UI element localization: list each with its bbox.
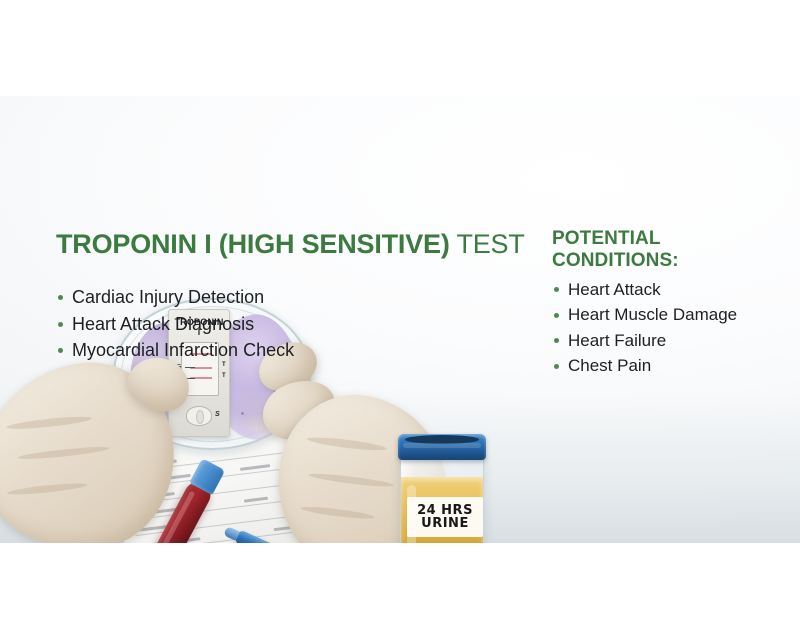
slide-title: TROPONIN I (HIGH SENSITIVE) TEST	[56, 230, 525, 259]
cassette-igm-t-mark: T	[222, 373, 226, 379]
cassette-sample-well-inner	[196, 410, 204, 424]
slide-title-light: TEST	[450, 229, 525, 259]
banner-image-area: LAB REQUISITION	[0, 96, 800, 543]
urine-specimen-cup: 24 HRS URINE	[398, 434, 486, 543]
slide-title-bold: TROPONIN I (HIGH SENSITIVE)	[56, 229, 450, 259]
potential-conditions-column: POTENTIAL CONDITIONS: Heart Attack Heart…	[552, 228, 788, 379]
specimen-label-line1: 24 HRS	[417, 504, 473, 517]
right-bullet-list: Heart Attack Heart Muscle Damage Heart F…	[552, 277, 788, 379]
specimen-cup-lid	[398, 434, 486, 460]
list-item: Heart Failure	[552, 328, 788, 354]
list-item: Heart Attack	[552, 277, 788, 303]
specimen-label-line2: URINE	[421, 517, 469, 530]
list-item: Cardiac Injury Detection	[56, 284, 294, 311]
list-item: Myocardial Infarction Check	[56, 337, 294, 364]
specimen-cup-label: 24 HRS URINE	[407, 497, 483, 537]
list-item: Heart Attack Diagnosis	[56, 311, 294, 338]
potential-conditions-heading: POTENTIAL CONDITIONS:	[552, 228, 788, 273]
specimen-cup-lid-ring	[403, 443, 481, 448]
specimen-cup-body: 24 HRS URINE	[400, 452, 484, 543]
left-bullet-list: Cardiac Injury Detection Heart Attack Di…	[56, 284, 294, 364]
cassette-sample-well	[186, 406, 212, 426]
list-item: Chest Pain	[552, 353, 788, 379]
list-item: Heart Muscle Damage	[552, 302, 788, 328]
cassette-sample-label: S	[215, 411, 220, 418]
slide-canvas: LAB REQUISITION	[0, 0, 800, 640]
